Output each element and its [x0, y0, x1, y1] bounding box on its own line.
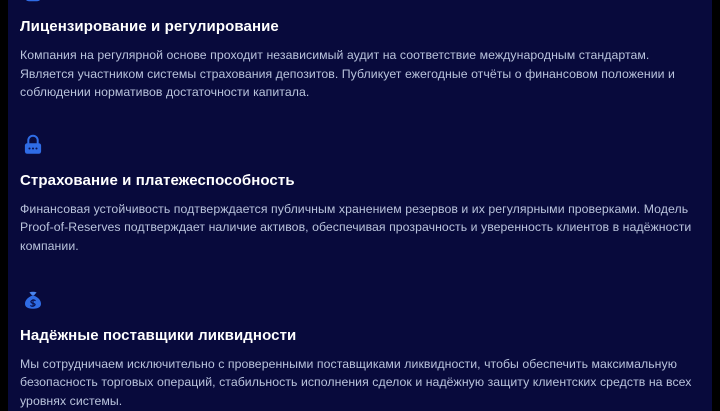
- screen-root: Лицензирование и регулирование Компания …: [0, 0, 720, 411]
- padlock-round-icon: [20, 0, 46, 4]
- money-bag-icon: [20, 287, 46, 313]
- sections-list: Лицензирование и регулирование Компания …: [8, 0, 712, 411]
- content-panel: Лицензирование и регулирование Компания …: [8, 0, 712, 411]
- section-body: Финансовая устойчивость подтверждается п…: [20, 200, 692, 256]
- section-body: Компания на регулярной основе проходит н…: [20, 46, 692, 102]
- section-insurance: Страхование и платежеспособность Финансо…: [8, 132, 712, 256]
- section-title: Надёжные поставщики ликвидности: [20, 326, 700, 345]
- section-liquidity: Надёжные поставщики ликвидности Мы сотру…: [8, 287, 712, 411]
- section-body: Мы сотрудничаем исключительно с проверен…: [20, 355, 692, 411]
- padlock-icon: [20, 132, 46, 158]
- section-gap: [8, 256, 712, 287]
- section-title: Страхование и платежеспособность: [20, 171, 700, 190]
- section-licensing: Лицензирование и регулирование Компания …: [8, 0, 712, 102]
- section-gap: [8, 102, 712, 132]
- section-title: Лицензирование и регулирование: [20, 17, 700, 36]
